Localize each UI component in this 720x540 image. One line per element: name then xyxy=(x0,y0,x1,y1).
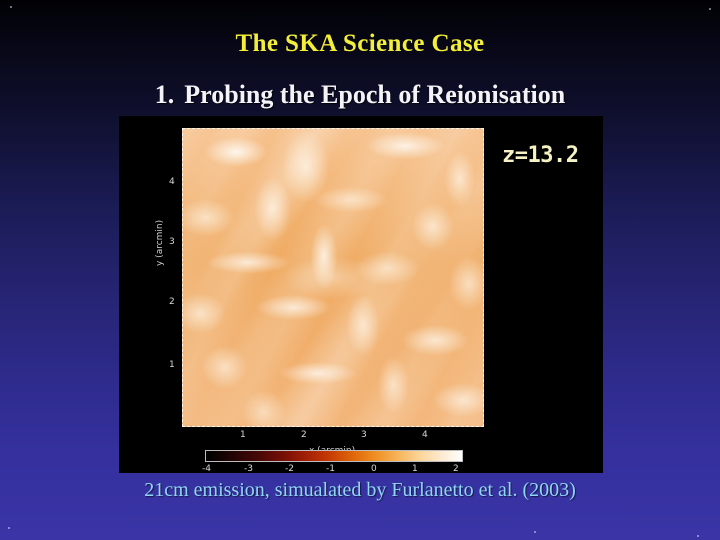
slide: The SKA Science Case 1.Probing the Epoch… xyxy=(0,0,720,540)
y-tick-label: 2 xyxy=(169,297,175,307)
slide-subtitle-number: 1. xyxy=(155,80,175,109)
slide-title: The SKA Science Case xyxy=(0,30,720,58)
y-axis-title: y (arcmin) xyxy=(155,220,165,266)
x-tick-label: 4 xyxy=(422,430,428,440)
slide-caption: 21cm emission, simualated by Furlanetto … xyxy=(0,479,720,502)
colorbar xyxy=(205,450,463,462)
heatmap-plot-area xyxy=(182,128,484,427)
y-tick-label: 3 xyxy=(169,237,175,247)
colorbar-tick-label: 0 xyxy=(371,464,377,474)
redshift-annotation: z=13.2 xyxy=(502,143,578,168)
x-tick-label: 2 xyxy=(301,430,307,440)
star-speck-icon xyxy=(10,6,12,8)
figure-panel: z=13.2 4 3 2 1 1 2 3 4 y (arcmin) x (arc… xyxy=(119,116,603,473)
x-tick-label: 3 xyxy=(361,430,367,440)
colorbar-tick-labels: -4 -3 -2 -1 0 1 2 xyxy=(205,464,463,476)
x-tick-label: 1 xyxy=(240,430,246,440)
colorbar-tick-label: -2 xyxy=(285,464,294,474)
colorbar-tick-label: 1 xyxy=(412,464,418,474)
colorbar-tick-label: -1 xyxy=(326,464,335,474)
y-tick-label: 1 xyxy=(169,360,175,370)
star-speck-icon xyxy=(697,535,699,537)
star-speck-icon xyxy=(534,531,536,533)
star-speck-icon xyxy=(8,527,10,529)
y-tick-label: 4 xyxy=(169,177,175,187)
slide-subtitle: 1.Probing the Epoch of Reionisation xyxy=(0,80,720,110)
colorbar-tick-label: 2 xyxy=(453,464,459,474)
star-speck-icon xyxy=(709,8,711,10)
colorbar-tick-label: -3 xyxy=(244,464,253,474)
colorbar-tick-label: -4 xyxy=(202,464,211,474)
slide-subtitle-text: Probing the Epoch of Reionisation xyxy=(184,80,565,109)
heatmap-image xyxy=(182,128,484,427)
